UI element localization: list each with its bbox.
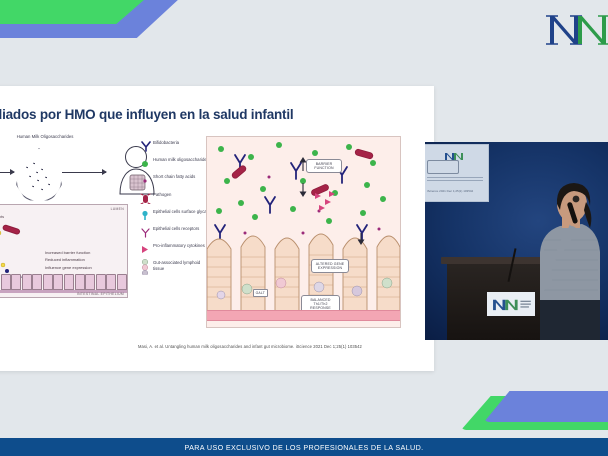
legend-item: Epithelial cells receptors: [140, 225, 212, 236]
screen-citation: iScience 2021 Dec 1;25(1) 103542: [427, 189, 473, 193]
blood-vessel: [207, 310, 400, 321]
legend-label: Epithelial cells receptors: [153, 225, 199, 232]
legend-item: Gut-associated lymphoid tissue: [140, 259, 212, 272]
slide-card: os mediados por HMO que influyen en la s…: [0, 86, 434, 371]
decor-chevron-bottom-right-blue: [484, 391, 608, 422]
legend-label: Short chain fatty acids: [153, 173, 195, 180]
legend-label: Human milk oligosaccharides: [153, 156, 209, 163]
screen-nni-logo: [442, 148, 464, 158]
left-lumen-panel: LUMEN een on Pathobionts Increased barri…: [0, 204, 128, 298]
galt-icon: [140, 259, 153, 270]
legend-label: Pathogen: [153, 191, 171, 198]
speaker-video[interactable]: iScience 2021 Dec 1;25(1) 103542: [425, 142, 608, 340]
legend-item: Short chain fatty acids: [140, 173, 212, 184]
presentation-stage: os mediados por HMO que influyen en la s…: [0, 0, 608, 456]
legend-label: Epithelial cells surface glycan: [153, 208, 209, 215]
slide-title: os mediados por HMO que influyen en la s…: [0, 107, 293, 122]
callout-barrier-function: BARRIER FUNCTION: [306, 159, 342, 173]
galt-label: GALT: [253, 289, 268, 297]
diagram-legend: Bifidobacteria Human milk oligosaccharid…: [140, 139, 212, 278]
main-gut-panel: BARRIER FUNCTION ALTERED GENE EXPRESSION…: [206, 136, 401, 328]
footer-disclaimer-text: PARA USO EXCLUSIVO DE LOS PROFESIONALES …: [185, 443, 424, 452]
pathogen-icon: [140, 191, 153, 202]
effect-item: Reduced inflammation: [45, 256, 92, 263]
legend-label: Pro-inflammatory cytokines: [153, 242, 205, 249]
pathobionts-label: Pathobionts: [0, 214, 4, 219]
arrow-into-droplet-icon: [0, 172, 14, 173]
legend-item: Human milk oligosaccharides: [140, 156, 212, 167]
hmo-dot-icon: [140, 156, 153, 167]
slide-citation: Masi, A. et al. Untangling human milk ol…: [138, 344, 362, 349]
lumen-label: LUMEN: [111, 207, 124, 211]
legend-label: Bifidobacteria: [153, 139, 179, 146]
effect-item: Increased barrier function: [45, 249, 92, 256]
hmo-caption: Human Milk Oligosaccharides: [10, 134, 80, 140]
projection-screen: iScience 2021 Dec 1;25(1) 103542: [425, 144, 489, 202]
receptor-icon: [140, 225, 153, 236]
lumen-area: [207, 137, 400, 235]
footer-disclaimer-bar: PARA USO EXCLUSIVO DE LOS PROFESIONALES …: [0, 438, 608, 456]
effects-list: Increased barrier function Reduced infla…: [45, 249, 92, 271]
callout-altered-gene-expression: ALTERED GENE EXPRESSION: [311, 259, 349, 273]
surface-glycan-icon: [140, 208, 153, 219]
screen-text-box: [427, 160, 459, 174]
nni-logo: [544, 6, 608, 50]
speaker-person: [530, 180, 602, 340]
legend-item: Pathogen: [140, 191, 212, 202]
legend-item: Pro-inflammatory cytokines: [140, 242, 212, 253]
effect-item: Influence gene expression: [45, 264, 92, 271]
legend-item: Epithelial cells surface glycan: [140, 208, 212, 219]
arrow-to-infant-icon: [62, 172, 106, 173]
epithelium-cells: [0, 274, 127, 290]
nni-podium-logo: [487, 292, 535, 316]
intestinal-epithelium-label: INTESTINAL EPITHELIUM: [77, 292, 124, 296]
milk-droplet-icon: [16, 148, 62, 202]
bifidobacteria-icon: [140, 139, 153, 150]
scfa-dot-icon: [140, 173, 153, 184]
legend-item: Bifidobacteria: [140, 139, 212, 150]
cytokine-icon: [140, 242, 153, 253]
legend-label: Gut-associated lymphoid tissue: [153, 259, 212, 272]
